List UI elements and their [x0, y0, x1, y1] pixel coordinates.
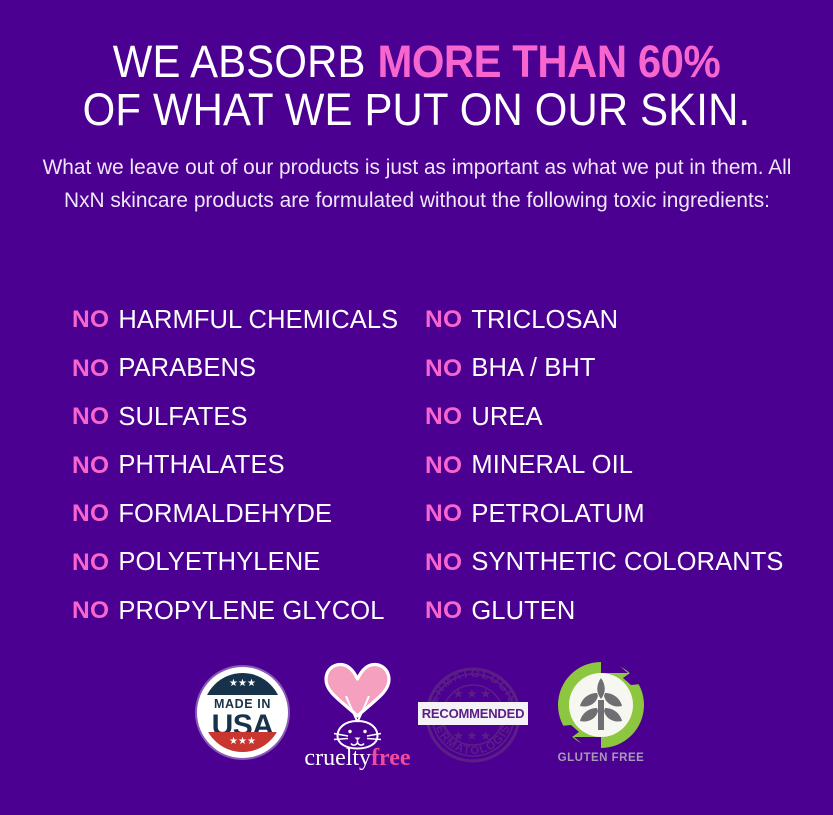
no-tag: NO [72, 403, 109, 431]
usa-stars-top: ★★★ [229, 679, 256, 689]
no-tag: NO [425, 306, 462, 334]
poster-root: WE ABSORB MORE THAN 60% OF WHAT WE PUT O… [0, 0, 833, 815]
ingredient-column-right: NO TRICLOSAN NO BHA / BHT NO UREA NO MIN… [425, 296, 825, 636]
ingredient-label: SYNTHETIC COLORANTS [471, 548, 783, 577]
free-word: free [371, 745, 411, 771]
headline-line-2: OF WHAT WE PUT ON OUR SKIN. [29, 86, 804, 134]
ingredient-label: TRICLOSAN [471, 306, 618, 335]
no-tag: NO [72, 597, 109, 625]
list-item: NO BHA / BHT [425, 345, 825, 394]
made-in-usa-badge-icon: ★★★ MADE IN USA ★★★ [197, 667, 288, 758]
ingredient-label: PARABENS [118, 354, 256, 383]
usa-stars-bottom: ★★★ [229, 737, 256, 747]
svg-text:★★★: ★★★ [453, 728, 494, 743]
gluten-free-label: GLUTEN FREE [547, 752, 655, 764]
list-item: NO HARMFUL CHEMICALS [72, 296, 422, 345]
headline-line-1-white: WE ABSORB [113, 36, 378, 87]
svg-text:★★★: ★★★ [453, 686, 494, 701]
ingredient-label: BHA / BHT [471, 354, 595, 383]
ingredient-label: GLUTEN [471, 597, 575, 626]
ingredient-label: PROPYLENE GLYCOL [118, 597, 384, 626]
ingredient-label: MINERAL OIL [471, 451, 633, 480]
intro-paragraph: What we leave out of our products is jus… [33, 151, 799, 216]
no-tag: NO [72, 452, 109, 480]
recommended-label: RECOMMENDED [422, 706, 525, 721]
list-item: NO PETROLATUM [425, 490, 825, 539]
ingredient-label: PETROLATUM [471, 500, 644, 529]
list-item: NO TRICLOSAN [425, 296, 825, 345]
list-item: NO PARABENS [72, 345, 422, 394]
excluded-ingredients-list: NO HARMFUL CHEMICALS NO PARABENS NO SULF… [0, 296, 833, 636]
no-tag: NO [425, 597, 462, 625]
cruelty-free-badge-icon: crueltyfree [300, 660, 415, 780]
no-tag: NO [72, 306, 109, 334]
gluten-free-badge-icon: GLUTEN FREE [553, 660, 649, 780]
headline-line-1-pink: MORE THAN 60% [377, 36, 720, 87]
no-tag: NO [72, 355, 109, 383]
usa-bottom-arc: ★★★ [207, 732, 279, 752]
no-tag: NO [425, 355, 462, 383]
ingredient-label: SULFATES [118, 403, 247, 432]
no-tag: NO [72, 549, 109, 577]
list-item: NO UREA [425, 393, 825, 442]
usa-inner-disc: ★★★ MADE IN USA ★★★ [203, 673, 282, 752]
no-tag: NO [425, 403, 462, 431]
no-tag: NO [425, 452, 462, 480]
list-item: NO PHTHALATES [72, 442, 422, 491]
list-item: NO PROPYLENE GLYCOL [72, 587, 422, 636]
certification-badge-row: ★★★ MADE IN USA ★★★ [0, 660, 833, 785]
cruelty-free-bunny-heart-icon [300, 660, 415, 752]
cruelty-word: cruelty [304, 745, 371, 771]
ingredient-label: POLYETHYLENE [118, 548, 320, 577]
list-item: NO SYNTHETIC COLORANTS [425, 539, 825, 588]
list-item: NO FORMALDEHYDE [72, 490, 422, 539]
list-item: NO SULFATES [72, 393, 422, 442]
headline-block: WE ABSORB MORE THAN 60% OF WHAT WE PUT O… [0, 0, 833, 133]
ingredient-label: FORMALDEHYDE [118, 500, 332, 529]
no-tag: NO [425, 500, 462, 528]
cruelty-free-wordmark: crueltyfree [300, 746, 415, 770]
gluten-free-wheat-icon [553, 660, 649, 752]
ingredient-label: PHTHALATES [118, 451, 284, 480]
no-tag: NO [72, 500, 109, 528]
headline-line-1: WE ABSORB MORE THAN 60% [29, 38, 804, 86]
list-item: NO GLUTEN [425, 587, 825, 636]
list-item: NO MINERAL OIL [425, 442, 825, 491]
ingredient-label: UREA [471, 403, 542, 432]
ingredient-label: HARMFUL CHEMICALS [118, 306, 398, 335]
dermatologist-recommended-banner: RECOMMENDED [418, 702, 528, 725]
no-tag: NO [425, 549, 462, 577]
usa-top-arc: ★★★ [207, 673, 279, 695]
list-item: NO POLYETHYLENE [72, 539, 422, 588]
dermatologist-recommended-badge-icon: DERMATOLOGIST DERMATOLOGIST ★★★ ★★★ RECO… [421, 664, 525, 766]
ingredient-column-left: NO HARMFUL CHEMICALS NO PARABENS NO SULF… [72, 296, 422, 636]
usa-outer-ring: ★★★ MADE IN USA ★★★ [197, 667, 288, 758]
